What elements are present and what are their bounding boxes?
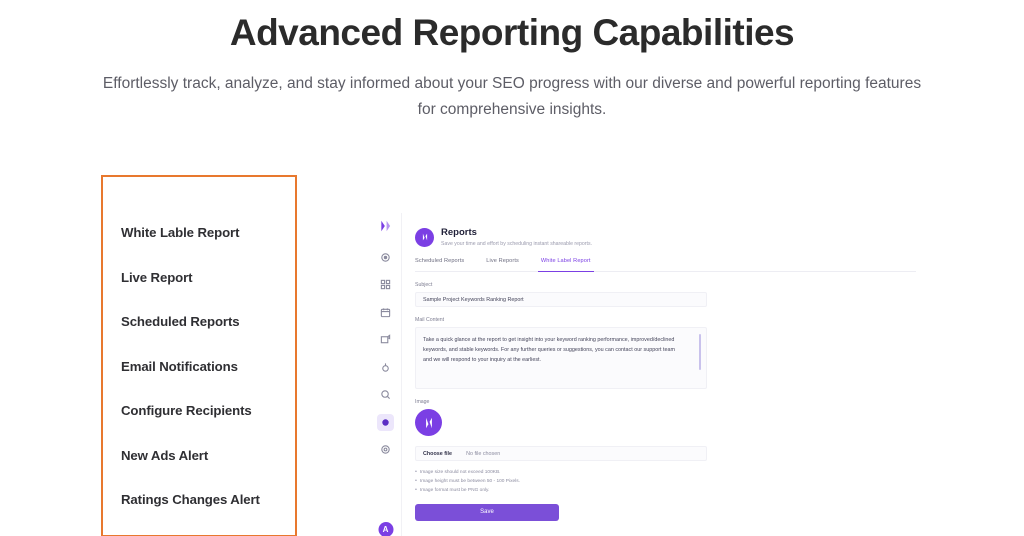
page-root: Advanced Reporting Capabilities Effortle… [0,0,1024,536]
reports-brand-icon [415,228,434,247]
file-upload-row[interactable]: Choose file No file chosen [415,446,707,461]
chart-icon[interactable] [377,331,394,348]
note-item: •Image height must be between 50 - 100 P… [415,477,916,486]
subject-input[interactable]: Sample Project Keywords Ranking Report [415,292,707,307]
bullet-icon: • [415,468,417,476]
feature-item-configure-recipients[interactable]: Configure Recipients [103,389,295,434]
feature-item-scheduled-reports[interactable]: Scheduled Reports [103,300,295,345]
feature-item-ratings-changes-alert[interactable]: Ratings Changes Alert [103,478,295,523]
settings-icon[interactable] [377,441,394,458]
search-icon[interactable] [377,386,394,403]
image-label: Image [415,399,916,405]
tab-scheduled-reports[interactable]: Scheduled Reports [415,258,464,267]
grid-apps-icon[interactable] [377,276,394,293]
uploaded-logo-preview [415,409,442,436]
mail-content-label: Mail Content [415,317,916,323]
calendar-icon[interactable] [377,304,394,321]
page-title: Advanced Reporting Capabilities [0,12,1024,55]
bullet-icon: • [415,486,417,494]
hero-section: Advanced Reporting Capabilities Effortle… [0,0,1024,123]
feature-item-new-ads-alert[interactable]: New Ads Alert [103,434,295,479]
feature-item-email-notifications[interactable]: Email Notifications [103,344,295,389]
reports-icon[interactable] [377,414,394,431]
subject-label: Subject [415,282,916,288]
reports-title: Reports [441,227,592,238]
mail-content-text: Take a quick glance at the report to get… [423,335,678,365]
note-item: •Image format must be PNG only. [415,486,916,495]
home-icon[interactable] [377,249,394,266]
bullet-icon: • [415,477,417,485]
feature-list: White Lable Report Live Report Scheduled… [101,175,297,536]
brand-logo-icon [379,219,393,233]
page-subtitle: Effortlessly track, analyze, and stay in… [92,71,932,123]
app-main-panel: Reports Save your time and effort by sch… [401,213,930,536]
content-row: White Lable Report Live Report Scheduled… [0,151,1024,511]
feature-item-live-report[interactable]: Live Report [103,255,295,300]
tab-white-label-report[interactable]: White Label Report [541,258,591,267]
tab-bar: Scheduled Reports Live Reports White Lab… [415,258,916,272]
note-item: •Image size should not exceed 100KB. [415,468,916,477]
save-button[interactable]: Save [415,504,559,521]
avatar[interactable]: A [378,522,393,536]
mail-content-textarea[interactable]: Take a quick glance at the report to get… [415,327,707,389]
feature-item-white-lable-report[interactable]: White Lable Report [103,211,295,256]
reports-header: Reports Save your time and effort by sch… [415,223,916,248]
app-screenshot: A Reports Save your time and effort by s… [370,213,930,536]
image-requirements: •Image size should not exceed 100KB. •Im… [415,468,916,495]
note-text: Image size should not exceed 100KB. [420,468,501,477]
tab-live-reports[interactable]: Live Reports [486,258,519,267]
link-icon[interactable] [377,359,394,376]
sidebar-rail: A [370,213,401,536]
choose-file-button[interactable]: Choose file [423,451,452,457]
note-text: Image height must be between 50 - 100 Pi… [420,477,520,486]
reports-subtitle: Save your time and effort by scheduling … [441,241,592,248]
file-name-text: No file chosen [466,451,500,457]
textarea-scrollbar[interactable] [699,334,701,370]
note-text: Image format must be PNG only. [420,486,490,495]
